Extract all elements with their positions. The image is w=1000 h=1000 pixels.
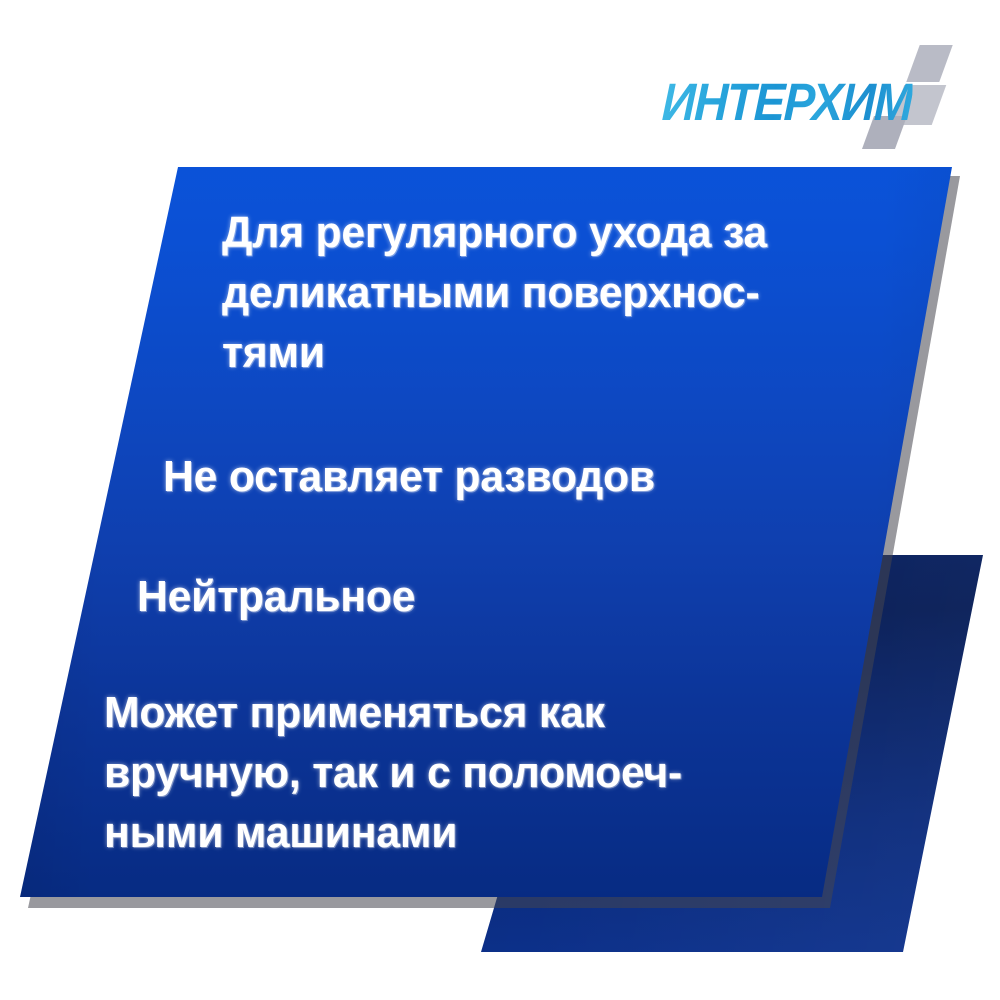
promo-poster: ИНТЕРХИМ Для регулярного ухода за делика… — [0, 0, 1000, 1000]
feature-line: Может применяться как — [104, 688, 605, 738]
feature-line: Не оставляет разводов — [163, 452, 655, 502]
feature-line: вручную, так и с поломоеч- — [104, 748, 682, 798]
feature-line: ными машинами — [104, 808, 457, 858]
feature-line: тями — [222, 328, 325, 378]
feature-line: деликатными поверхнос- — [222, 268, 760, 318]
feature-list: Для регулярного ухода за деликатными пов… — [0, 0, 1000, 1000]
feature-line: Нейтральное — [137, 572, 415, 622]
feature-line: Для регулярного ухода за — [222, 208, 767, 258]
